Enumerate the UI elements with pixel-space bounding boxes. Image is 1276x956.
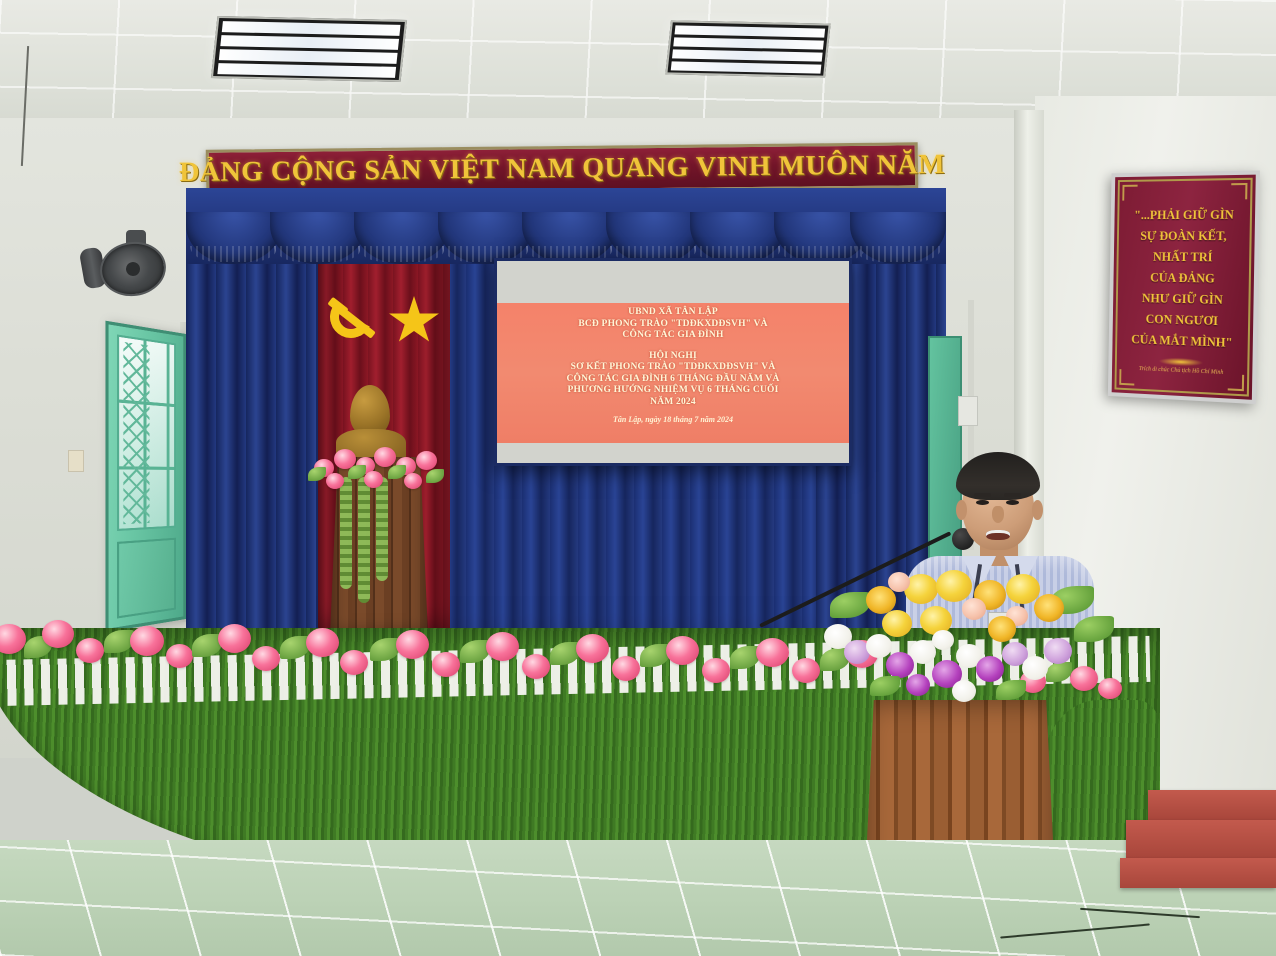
- pedestal-flower-garland: [308, 441, 450, 497]
- podium-flower-arrangement: [810, 568, 1130, 738]
- eyebrow-right: [1004, 493, 1021, 497]
- plaque-corner-top-right: [1231, 183, 1247, 200]
- plaque-corner-bottom-right: [1228, 374, 1244, 391]
- plaque-corner-top-left: [1122, 185, 1137, 201]
- party-emblem: [326, 290, 444, 354]
- wall-plaque: "...PHẢI GIỮ GÌN SỰ ĐOÀN KẾT, NHẤT TRÍ C…: [1108, 170, 1260, 404]
- plaque-line-2: SỰ ĐOÀN KẾT,: [1140, 225, 1227, 246]
- plaque-line-3: NHẤT TRÍ: [1153, 246, 1213, 268]
- mouth: [986, 530, 1010, 540]
- fan-blade-cage: [97, 238, 170, 301]
- step-bottom: [1120, 858, 1276, 888]
- speaker-hair: [956, 452, 1040, 500]
- curtain-left-panel: [186, 210, 316, 650]
- door-glass-panel: [117, 334, 176, 531]
- floor-tile-lines: [0, 840, 1276, 956]
- step-middle: [1126, 820, 1276, 858]
- slide-body-line-1: HỘI NGHỊ: [649, 351, 697, 363]
- slide-body-line-3: CÔNG TÁC GIA ĐÌNH 6 THÁNG ĐẦU NĂM VÀ: [566, 374, 779, 386]
- eye-left: [976, 500, 989, 505]
- projection-screen: UBND XÃ TÂN LẬP BCĐ PHONG TRÀO "TDĐKXDĐS…: [494, 258, 852, 466]
- slide-date-line: Tân Lập, ngày 18 tháng 7 năm 2024: [613, 415, 733, 424]
- slide-body-line-4: PHƯƠNG HƯỚNG NHIỆM VỤ 6 THÁNG CUỐI: [567, 385, 778, 397]
- hammer-and-sickle-icon: [326, 292, 382, 350]
- door-lattice-grille: [123, 342, 149, 524]
- ear-right: [1032, 500, 1043, 520]
- plaque-ornament: [1158, 357, 1203, 367]
- slide-header-line-1: UBND XÃ TÂN LẬP: [628, 307, 718, 319]
- ear-left: [956, 500, 967, 520]
- electrical-junction-box: [958, 396, 978, 426]
- slide-header-line-3: CÔNG TÁC GIA ĐÌNH: [622, 330, 723, 342]
- ceiling-light-panel-right: [665, 20, 830, 77]
- slide-body-line-2: SƠ KẾT PHONG TRÀO "TDĐKXDĐSVH" VÀ: [571, 362, 776, 374]
- plaque-line-7: CỦA MẮT MÌNH": [1131, 329, 1233, 354]
- step-top: [1148, 790, 1276, 820]
- plaque-line-4: CỦA ĐẢNG: [1150, 267, 1215, 289]
- green-door-left[interactable]: [105, 321, 186, 633]
- presentation-slide: UBND XÃ TÂN LẬP BCĐ PHONG TRÀO "TDĐKXDĐS…: [497, 303, 849, 443]
- ho-chi-minh-bust-group: [300, 385, 460, 635]
- plaque-attribution: Trích di chúc Chủ tịch Hồ Chí Minh: [1139, 366, 1224, 376]
- plaque-corner-bottom-left: [1119, 369, 1134, 385]
- light-switch-plate[interactable]: [68, 450, 84, 472]
- stage-steps: [1120, 790, 1276, 900]
- conference-hall-photo: ĐẢNG CỘNG SẢN VIỆT NAM QUANG VINH MUÔN N…: [0, 0, 1276, 956]
- slide-body-line-5: NĂM 2024: [650, 397, 696, 409]
- eyebrow-left: [974, 493, 991, 497]
- slide-header-line-2: BCĐ PHONG TRÀO "TDĐKXDĐSVH" VÀ: [578, 319, 767, 331]
- nose: [992, 506, 1004, 523]
- floor: [0, 840, 1276, 956]
- wall-fan: [74, 240, 166, 306]
- banner-text: ĐẢNG CỘNG SẢN VIỆT NAM QUANG VINH MUÔN N…: [179, 149, 946, 189]
- ceiling-light-panel-left: [211, 16, 407, 82]
- plaque-line-1: "...PHẢI GIỮ GÌN: [1134, 204, 1234, 226]
- plaque-line-5: NHƯ GIỮ GÌN: [1142, 288, 1223, 311]
- eye-right: [1006, 500, 1019, 505]
- plaque-line-6: CON NGƯƠI: [1146, 309, 1219, 332]
- yellow-star-icon: [388, 296, 440, 346]
- curtain-valance: [186, 188, 946, 264]
